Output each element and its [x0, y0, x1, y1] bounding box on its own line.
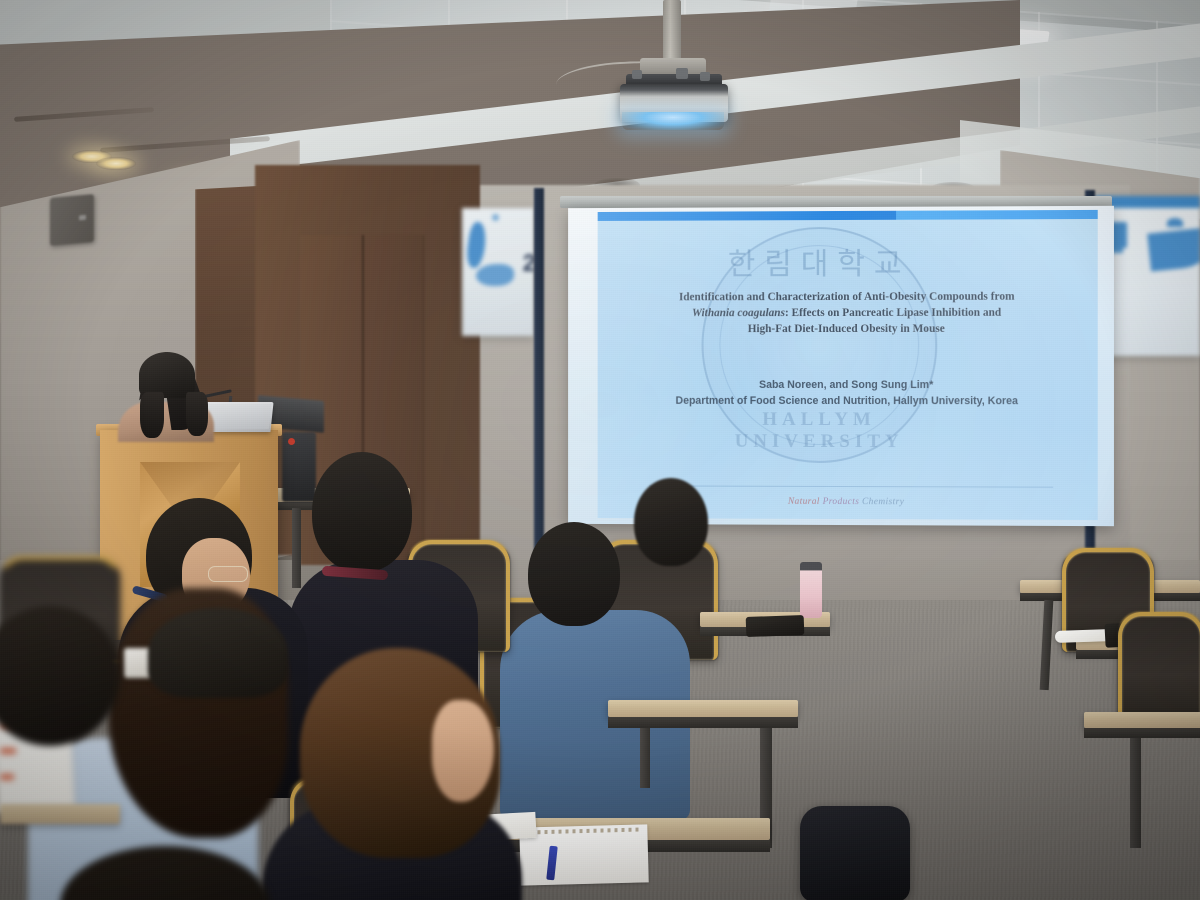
slide-footer-word-1: Natural	[788, 497, 820, 507]
program-highlight-mark	[0, 748, 16, 754]
watermark-english-text: HALLYM UNIVERSITY	[704, 409, 936, 453]
chair-frame	[1118, 612, 1200, 724]
banner-frame-left	[534, 188, 544, 558]
audience-head	[148, 608, 288, 698]
conference-room-photo: 2 한림대학교 HALLYM UNIVERSITY Identification…	[0, 0, 1200, 900]
program-highlight-mark	[0, 774, 14, 780]
projector-knob	[700, 72, 710, 81]
table-leg	[640, 728, 650, 788]
projector-ceiling-mount	[663, 0, 681, 62]
audience-head	[634, 478, 708, 566]
table-row	[1084, 712, 1200, 728]
presenter-hijab-drape	[140, 392, 164, 438]
table-row	[608, 700, 798, 717]
projector-bracket	[640, 58, 706, 74]
conference-banner-left: 2	[462, 208, 534, 336]
table-leg	[1130, 738, 1141, 848]
av-equipment-rack	[282, 432, 316, 502]
slide-footer-word-3: Chemistry	[862, 497, 904, 507]
drink-bottle[interactable]	[800, 562, 822, 618]
slide-title-line3: High-Fat Diet-Induced Obesity in Mouse	[748, 323, 945, 335]
banner-graphic	[1167, 218, 1183, 227]
slide-authors-block: Saba Noreen, and Song Sung Lim* Departme…	[625, 378, 1069, 410]
hallym-university-seal-watermark: 한림대학교 HALLYM UNIVERSITY	[702, 227, 938, 464]
slide-affiliation: Department of Food Science and Nutrition…	[676, 395, 1018, 407]
tablet-device[interactable]	[746, 615, 805, 637]
projection-screen: 한림대학교 HALLYM UNIVERSITY Identification a…	[568, 206, 1114, 526]
presentation-slide: 한림대학교 HALLYM UNIVERSITY Identification a…	[598, 210, 1098, 520]
wall-speaker-icon	[50, 194, 94, 246]
slide-authors: Saba Noreen, and Song Sung Lim*	[759, 379, 933, 391]
banner-fan-graphic	[1147, 226, 1200, 271]
banner-graphic	[476, 264, 514, 286]
eyeglasses-icon	[208, 566, 248, 582]
table-edge	[1084, 728, 1200, 738]
projector-lens-icon	[622, 112, 724, 130]
audience-head	[312, 452, 412, 572]
audience-head	[528, 522, 620, 626]
watermark-korean-text: 한림대학교	[704, 239, 936, 284]
slide-title-line2-rest: : Effects on Pancreatic Lipase Inhibitio…	[785, 307, 1001, 319]
slide-title-species: Withania coagulans	[692, 307, 785, 319]
paper-on-table	[1055, 629, 1111, 643]
equipment-power-led-icon	[288, 438, 295, 445]
presenter-hijab-drape	[186, 392, 208, 436]
projector-knob	[632, 70, 642, 79]
banner-graphic	[465, 221, 488, 269]
banner-number: 2	[523, 250, 534, 278]
notebook-spiral	[523, 827, 641, 834]
slide-title: Identification and Characterization of A…	[635, 289, 1059, 338]
slide-title-line1: Identification and Characterization of A…	[679, 291, 1015, 304]
spiral-notebook[interactable]	[519, 824, 648, 885]
table-edge	[608, 717, 798, 728]
projector-knob	[676, 68, 688, 79]
slide-footer-word-2: Products	[823, 497, 860, 507]
table-leg	[292, 508, 301, 588]
banner-graphic	[492, 214, 499, 221]
ceiling-downlight-icon	[96, 157, 136, 170]
slide-accent-bar-highlight	[896, 210, 1098, 220]
table-row	[0, 804, 120, 824]
slide-footer-rule	[649, 485, 1053, 487]
backpack[interactable]	[800, 806, 910, 900]
